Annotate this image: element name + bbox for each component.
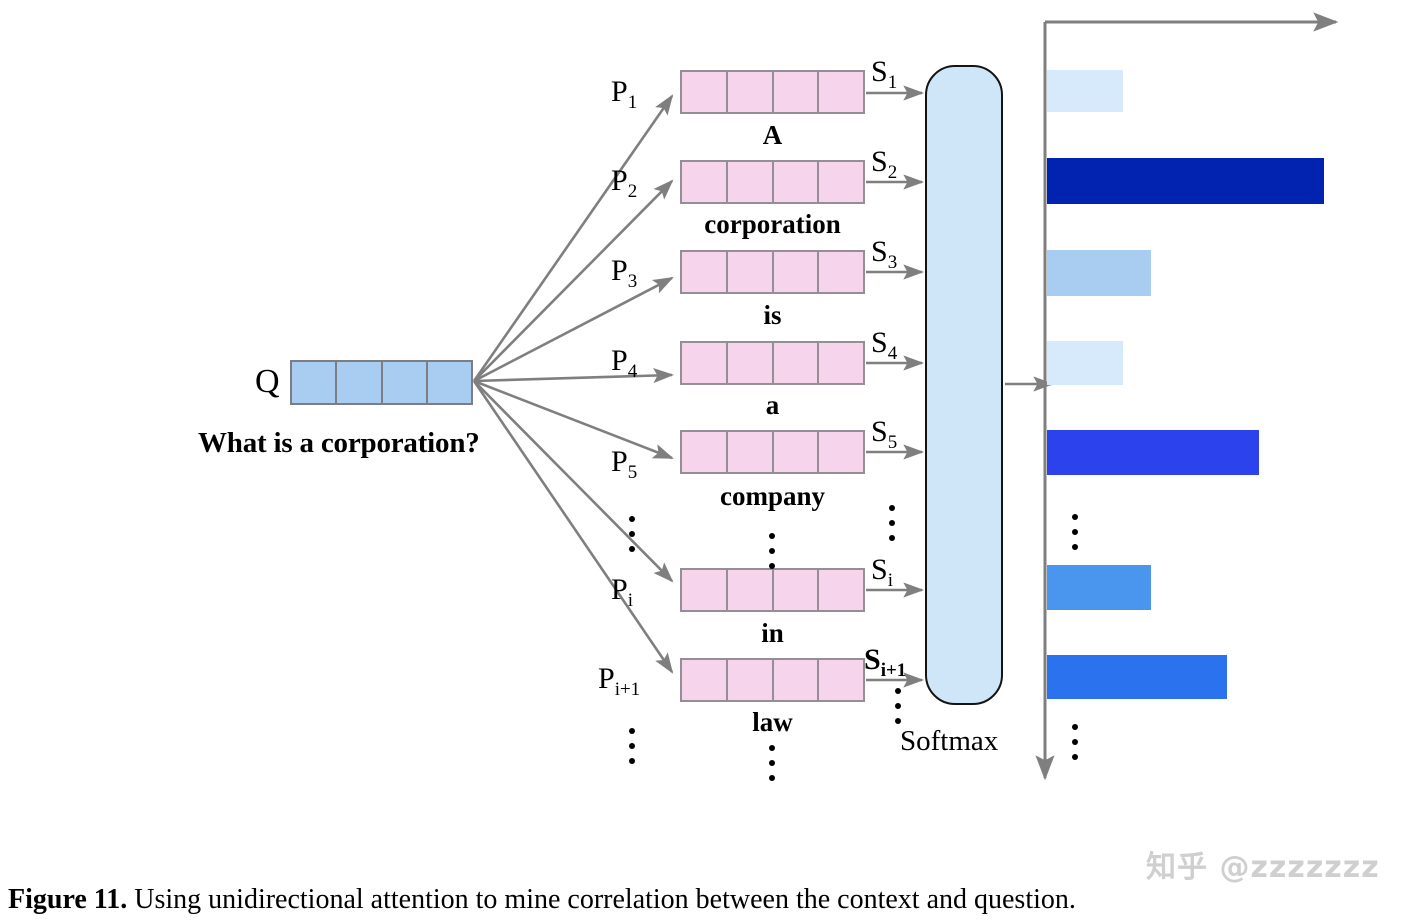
passage-cell <box>819 660 863 700</box>
attention-bar <box>1047 655 1227 699</box>
query-cell <box>428 362 471 403</box>
passage-vector-pi <box>680 568 865 612</box>
query-vector <box>290 360 473 405</box>
passage-cell <box>728 252 774 292</box>
passage-cell <box>682 570 728 610</box>
score-label-s3: S3 <box>871 235 897 274</box>
score-label-si: Si <box>871 553 893 592</box>
softmax-block <box>925 65 1003 705</box>
passage-cell <box>682 252 728 292</box>
ellipsis-p-vectors <box>769 533 775 569</box>
arrow-q-to-p2 <box>474 181 672 381</box>
query-label: Q <box>255 362 280 402</box>
passage-word-p3: is <box>680 300 865 331</box>
passage-cell <box>774 660 820 700</box>
passage-label-pi: Pi <box>611 573 633 612</box>
passage-vector-p2 <box>680 160 865 204</box>
arrow-q-to-p1 <box>474 96 672 381</box>
passage-word-p1: A <box>680 120 865 151</box>
passage-cell <box>819 343 863 383</box>
passage-word-p2: corporation <box>680 209 865 240</box>
ellipsis-scores-lower <box>895 688 901 724</box>
passage-cell <box>728 162 774 202</box>
ellipsis-p-words <box>769 745 775 781</box>
arrow-q-to-pi <box>474 381 672 581</box>
figure-caption-prefix: Figure 11. <box>8 884 127 915</box>
passage-word-pi1: law <box>680 707 865 738</box>
passage-cell <box>774 72 820 112</box>
query-cell <box>337 362 382 403</box>
passage-label-pi1: Pi+1 <box>598 662 640 701</box>
attention-bar <box>1047 430 1259 475</box>
arrow-q-to-pi1 <box>474 381 672 672</box>
passage-cell <box>819 570 863 610</box>
passage-cell <box>728 343 774 383</box>
arrow-q-to-p4 <box>474 375 672 381</box>
figure-caption: Figure 11. Using unidirectional attentio… <box>8 884 1398 916</box>
passage-word-p5: company <box>680 481 865 512</box>
passage-vector-p4 <box>680 341 865 385</box>
score-label-s4: S4 <box>871 326 897 365</box>
passage-cell <box>819 162 863 202</box>
passage-label-p3: P3 <box>611 254 637 293</box>
attention-bar <box>1047 70 1123 112</box>
passage-cell <box>774 162 820 202</box>
ellipsis-bars-lower <box>1072 724 1078 760</box>
passage-word-p4: a <box>680 390 865 421</box>
ellipsis-p-labels-upper <box>629 516 635 552</box>
passage-cell <box>774 432 820 472</box>
passage-label-p1: P1 <box>611 75 637 114</box>
query-text: What is a corporation? <box>198 427 480 460</box>
arrow-q-to-p5 <box>474 381 672 458</box>
passage-label-p4: P4 <box>611 344 637 383</box>
ellipsis-p-labels-lower <box>629 728 635 764</box>
attention-bar <box>1047 341 1123 385</box>
figure-caption-text: Using unidirectional attention to mine c… <box>127 884 1076 915</box>
watermark: 知乎 @zzzzzzz <box>1146 842 1380 886</box>
passage-cell <box>728 72 774 112</box>
passage-cell <box>728 570 774 610</box>
passage-label-p2: P2 <box>611 164 637 203</box>
score-label-si1: Si+1 <box>864 643 906 682</box>
passage-vector-p5 <box>680 430 865 474</box>
passage-cell <box>682 432 728 472</box>
passage-cell <box>819 72 863 112</box>
passage-cell <box>819 432 863 472</box>
passage-cell <box>819 252 863 292</box>
score-label-s2: S2 <box>871 145 897 184</box>
passage-label-p5: P5 <box>611 445 637 484</box>
passage-cell <box>774 570 820 610</box>
passage-vector-p3 <box>680 250 865 294</box>
query-cell <box>383 362 428 403</box>
passage-cell <box>728 432 774 472</box>
passage-cell <box>774 343 820 383</box>
passage-cell <box>682 660 728 700</box>
passage-cell <box>682 343 728 383</box>
ellipsis-bars-upper <box>1072 514 1078 550</box>
attention-bar <box>1047 250 1151 296</box>
passage-vector-p1 <box>680 70 865 114</box>
softmax-label: Softmax <box>900 725 998 758</box>
score-label-s5: S5 <box>871 415 897 454</box>
query-cell <box>292 362 337 403</box>
passage-cell <box>682 162 728 202</box>
passage-cell <box>728 660 774 700</box>
attention-bar <box>1047 565 1151 610</box>
arrow-q-to-p3 <box>474 278 672 381</box>
attention-bar <box>1047 158 1324 204</box>
query-to-passage-arrows <box>474 96 672 672</box>
ellipsis-scores-upper <box>889 505 895 541</box>
passage-word-pi: in <box>680 618 865 649</box>
passage-cell <box>682 72 728 112</box>
score-label-s1: S1 <box>871 55 897 94</box>
passage-vector-pi1 <box>680 658 865 702</box>
passage-cell <box>774 252 820 292</box>
